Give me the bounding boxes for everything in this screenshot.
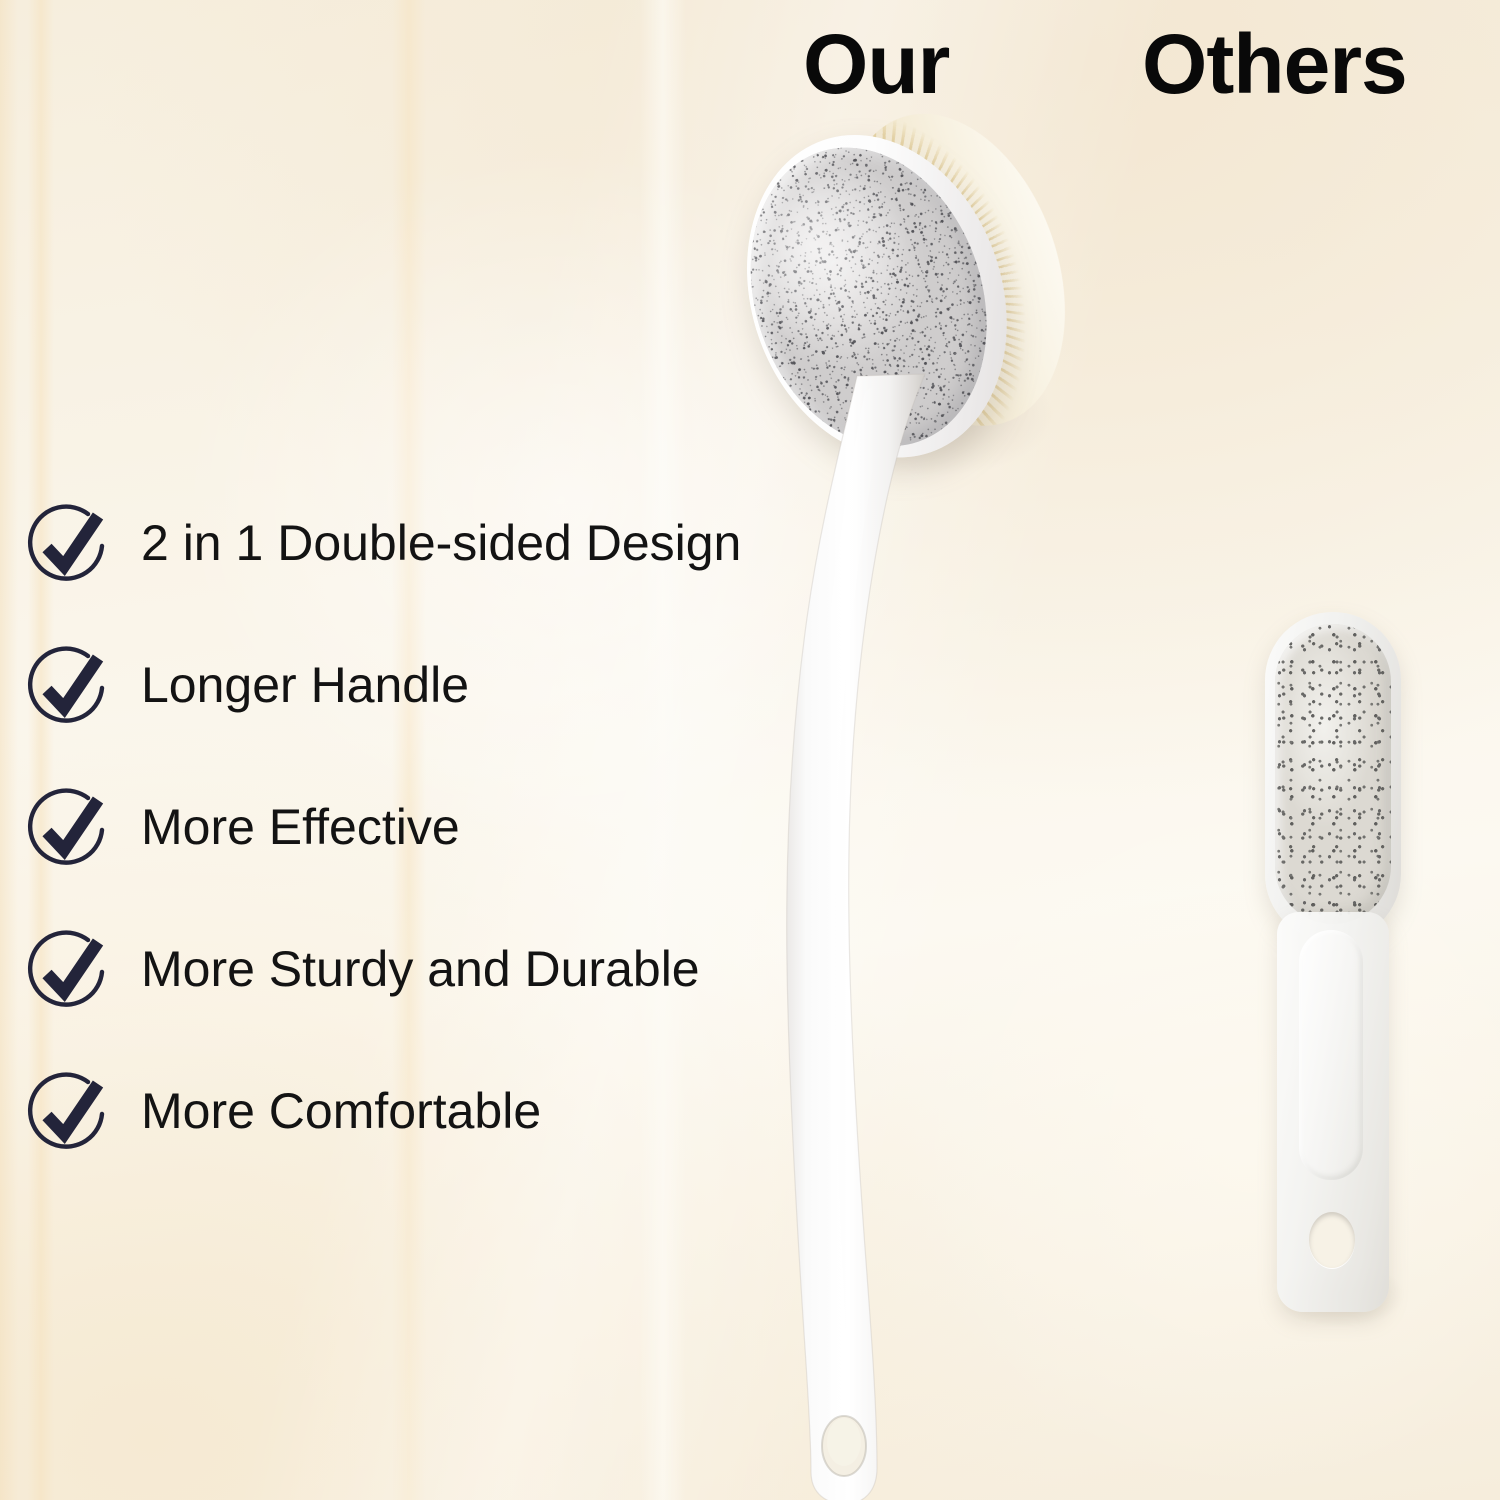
check-circle-icon: [26, 504, 112, 590]
check-circle-icon: [26, 1072, 112, 1158]
list-item-label: More Effective: [141, 784, 460, 870]
our-product-image: [735, 118, 1105, 1500]
list-item-label: More Comfortable: [141, 1068, 541, 1154]
check-circle-icon: [26, 788, 112, 874]
check-circle-icon: [26, 930, 112, 1016]
list-item: More Comfortable: [26, 1066, 826, 1208]
list-item: More Sturdy and Durable: [26, 924, 826, 1066]
list-item-label: 2 in 1 Double-sided Design: [141, 500, 741, 586]
other-handle: [1277, 912, 1389, 1312]
list-item: More Effective: [26, 782, 826, 924]
list-item-label: More Sturdy and Durable: [141, 926, 700, 1012]
product-comparison-image: Our Others 2 in 1 Double-sided Design Lo…: [0, 0, 1500, 1500]
other-product-image: [1255, 612, 1415, 1312]
hang-hole: [1309, 1212, 1355, 1268]
hang-hole-inner: [827, 1418, 861, 1466]
list-item: Longer Handle: [26, 640, 826, 782]
other-pumice-pad: [1275, 624, 1391, 924]
pumice-speckle-texture: [1275, 624, 1391, 924]
list-item: 2 in 1 Double-sided Design: [26, 498, 826, 640]
others-column-header: Others: [1142, 22, 1407, 106]
our-brush-handle: [735, 368, 1105, 1500]
feature-list: 2 in 1 Double-sided Design Longer Handle…: [26, 498, 826, 1208]
handle-groove: [1299, 930, 1363, 1180]
check-circle-icon: [26, 646, 112, 732]
our-column-header: Our: [803, 22, 949, 106]
list-item-label: Longer Handle: [141, 642, 469, 728]
